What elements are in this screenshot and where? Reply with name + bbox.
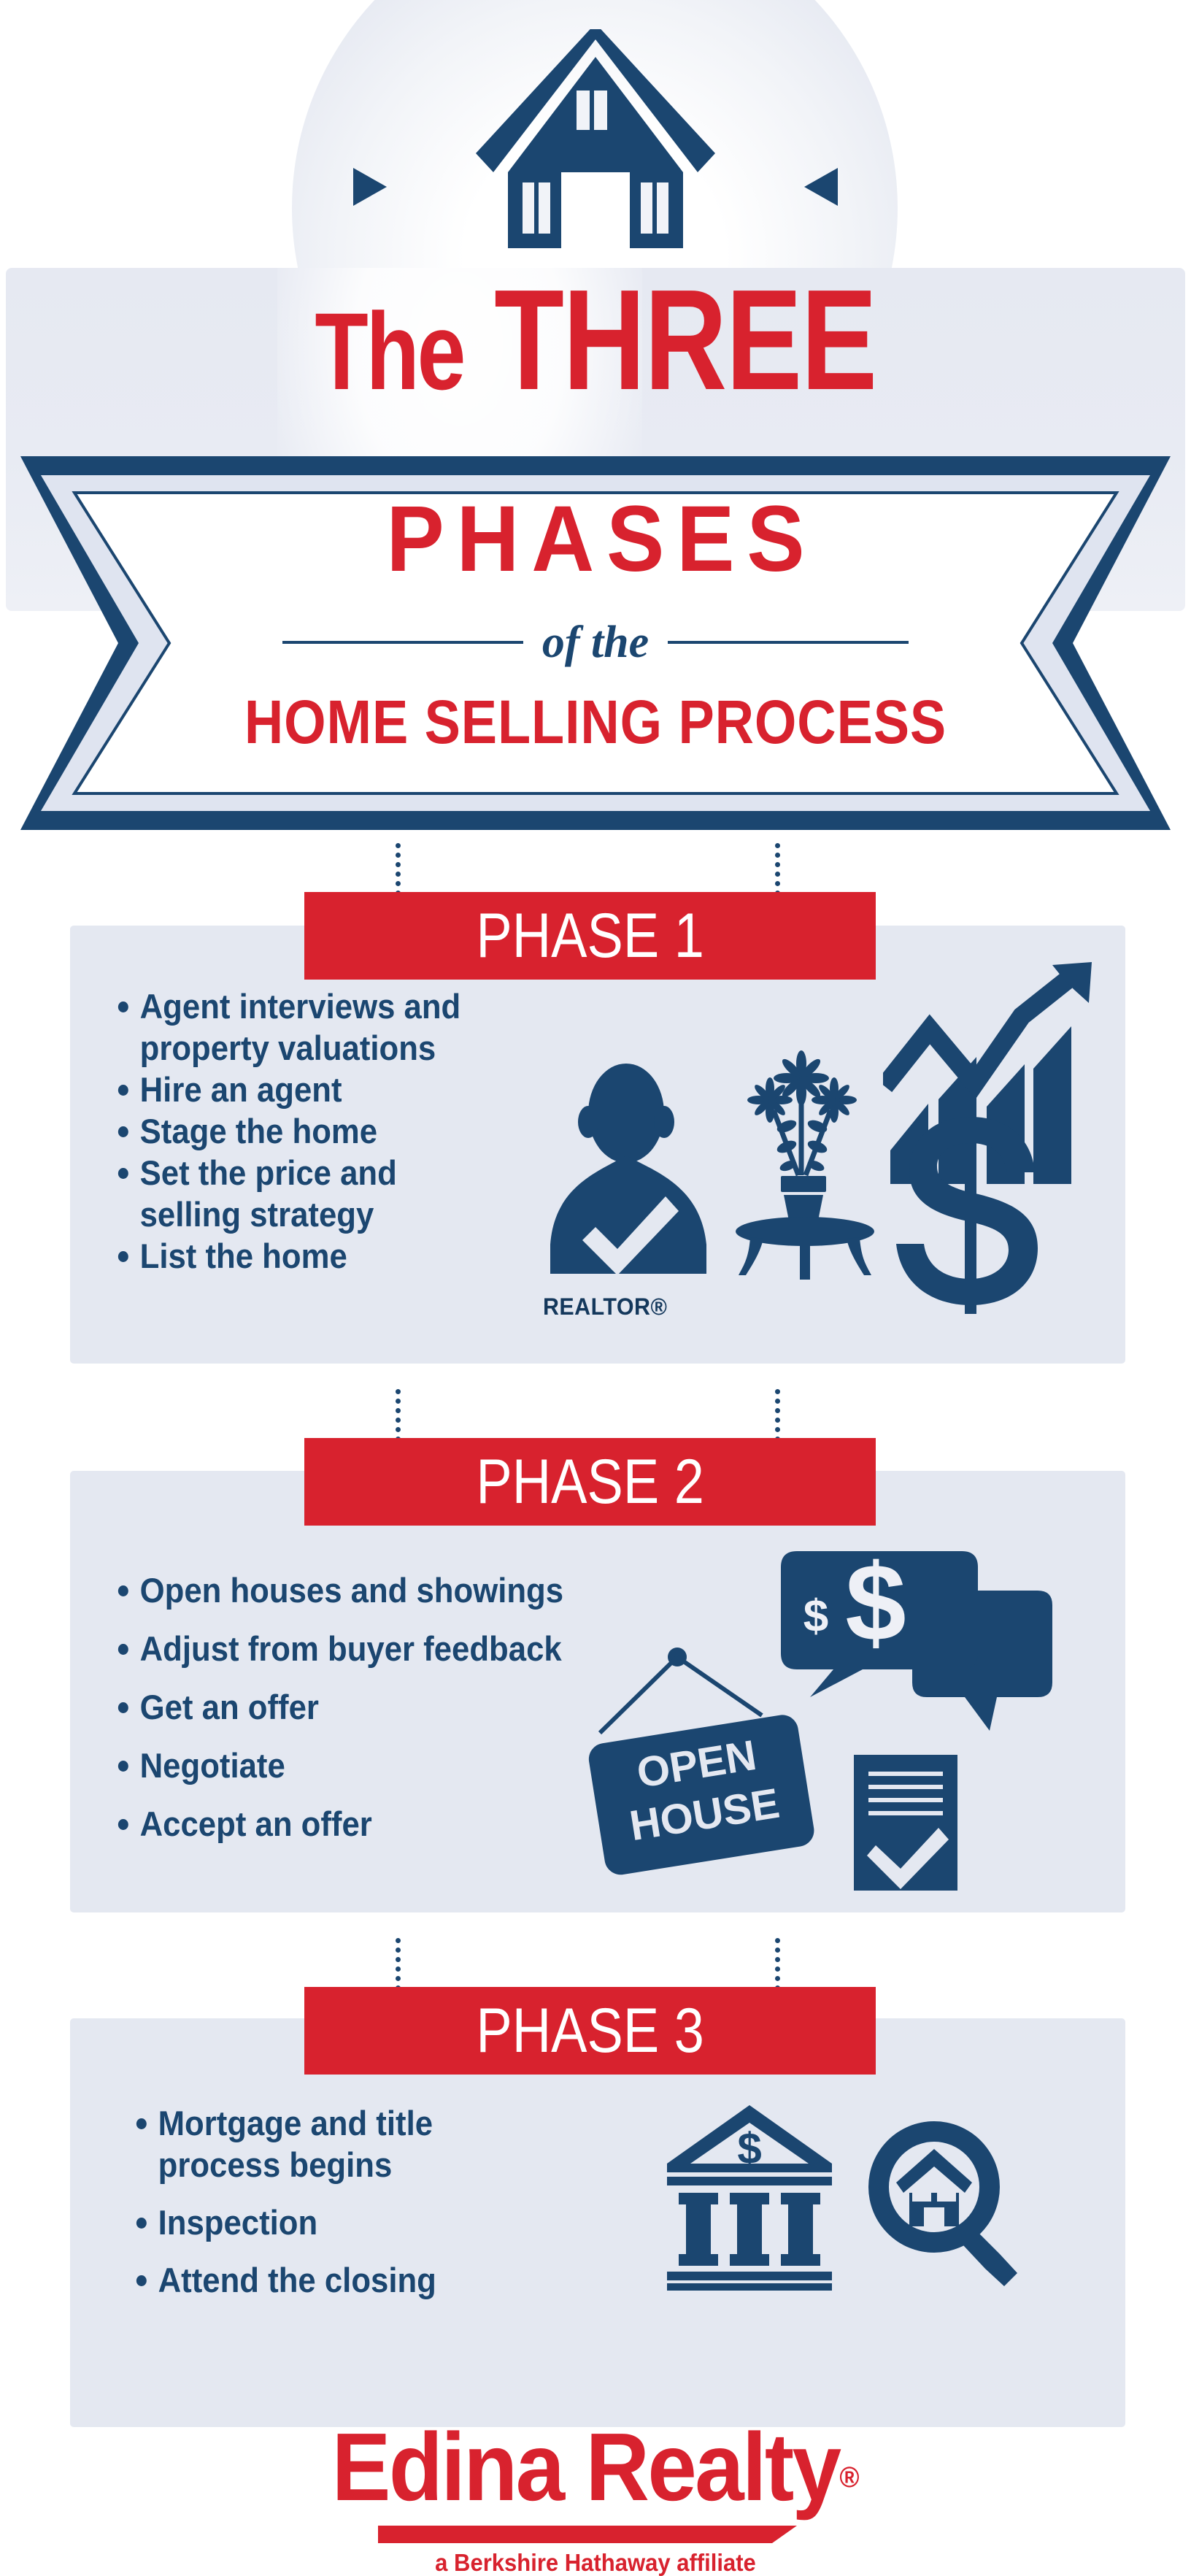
bank-dollar-symbol: $ bbox=[737, 2124, 761, 2173]
triangle-left-icon bbox=[797, 165, 841, 209]
page-title-prefix: The bbox=[315, 290, 463, 412]
connector-line-left-3 bbox=[396, 1938, 401, 1991]
phase-2-bullet-list: Open houses and showings Adjust from buy… bbox=[117, 1569, 657, 1845]
list-item: Set the price and selling strategy bbox=[117, 1152, 497, 1235]
list-item: Stage the home bbox=[117, 1110, 497, 1152]
magnifier-house-icon bbox=[861, 2117, 1036, 2292]
brand-tagline: a Berkshire Hathaway affiliate bbox=[36, 2550, 1155, 2575]
checklist-document-icon bbox=[852, 1755, 962, 1893]
ribbon-rule-right bbox=[668, 641, 909, 644]
connector-line-right-3 bbox=[775, 1938, 780, 1991]
ribbon-rule-left bbox=[282, 641, 523, 644]
bank-dollar-icon: $ bbox=[666, 2102, 833, 2292]
bubble-small-dollar: $ bbox=[803, 1591, 828, 1642]
potted-plant-table-icon bbox=[728, 1040, 882, 1281]
phase-2-banner-label: PHASE 2 bbox=[476, 1450, 704, 1513]
list-item: Open houses and showings bbox=[117, 1569, 619, 1611]
list-item: Attend the closing bbox=[135, 2259, 515, 2301]
phase-1-banner-label: PHASE 1 bbox=[476, 904, 704, 967]
brand-edina: Edina bbox=[332, 2413, 563, 2521]
ribbon-subtitle: HOME SELLING PROCESS bbox=[90, 691, 1102, 753]
dollar-sign-icon bbox=[895, 1095, 1048, 1314]
page-title-main: THREE bbox=[494, 260, 876, 420]
bubble-large-dollar: $ bbox=[845, 1551, 906, 1664]
registered-mark: ® bbox=[839, 2461, 859, 2494]
connector-line-left-1 bbox=[396, 843, 401, 896]
list-item: Hire an agent bbox=[117, 1069, 497, 1110]
house-icon-wrapper bbox=[406, 29, 785, 270]
list-item: Get an offer bbox=[117, 1686, 619, 1728]
footer-logo: Edina Realty® a Berkshire Hathaway affil… bbox=[0, 2409, 1191, 2568]
phase-3-banner: PHASE 3 bbox=[304, 1987, 876, 2075]
title-ribbon: PHASES of the HOME SELLING PROCESS bbox=[20, 456, 1171, 830]
list-item: Inspection bbox=[135, 2202, 515, 2243]
connector-line-right-1 bbox=[775, 843, 780, 896]
brand-realty: Realty bbox=[585, 2413, 839, 2521]
phase-3-bullet-list: Mortgage and title process begins Inspec… bbox=[135, 2102, 544, 2301]
brand-wordmark: Edina Realty® bbox=[47, 2419, 1143, 2526]
phase-1-bullet-list: Agent interviews and property valuations… bbox=[117, 985, 525, 1277]
ribbon-of-the: of the bbox=[542, 620, 649, 665]
ribbon-of-the-row: of the bbox=[20, 620, 1171, 665]
page-title: The THREE bbox=[119, 269, 1072, 423]
connector-line-right-2 bbox=[775, 1389, 780, 1442]
triangle-right-icon bbox=[350, 165, 394, 209]
phase-2-banner: PHASE 2 bbox=[304, 1438, 876, 1526]
brand-underline-bar bbox=[378, 2526, 772, 2543]
phase-1-banner: PHASE 1 bbox=[304, 892, 876, 980]
list-item: Mortgage and title process begins bbox=[135, 2102, 515, 2185]
list-item: Accept an offer bbox=[117, 1803, 619, 1845]
house-icon bbox=[406, 29, 785, 270]
list-item: List the home bbox=[117, 1235, 497, 1277]
ribbon-phases-word: PHASES bbox=[61, 493, 1130, 586]
realtor-trademark-label: REALTOR® bbox=[543, 1293, 667, 1320]
list-item: Negotiate bbox=[117, 1745, 619, 1786]
list-item: Adjust from buyer feedback bbox=[117, 1628, 619, 1669]
connector-line-left-2 bbox=[396, 1389, 401, 1442]
list-item: Agent interviews and property valuations bbox=[117, 985, 497, 1069]
speech-bubbles-dollar-icon: $ $ bbox=[781, 1551, 1058, 1770]
phase-3-banner-label: PHASE 3 bbox=[476, 1999, 704, 2062]
realtor-person-icon bbox=[540, 1062, 715, 1281]
